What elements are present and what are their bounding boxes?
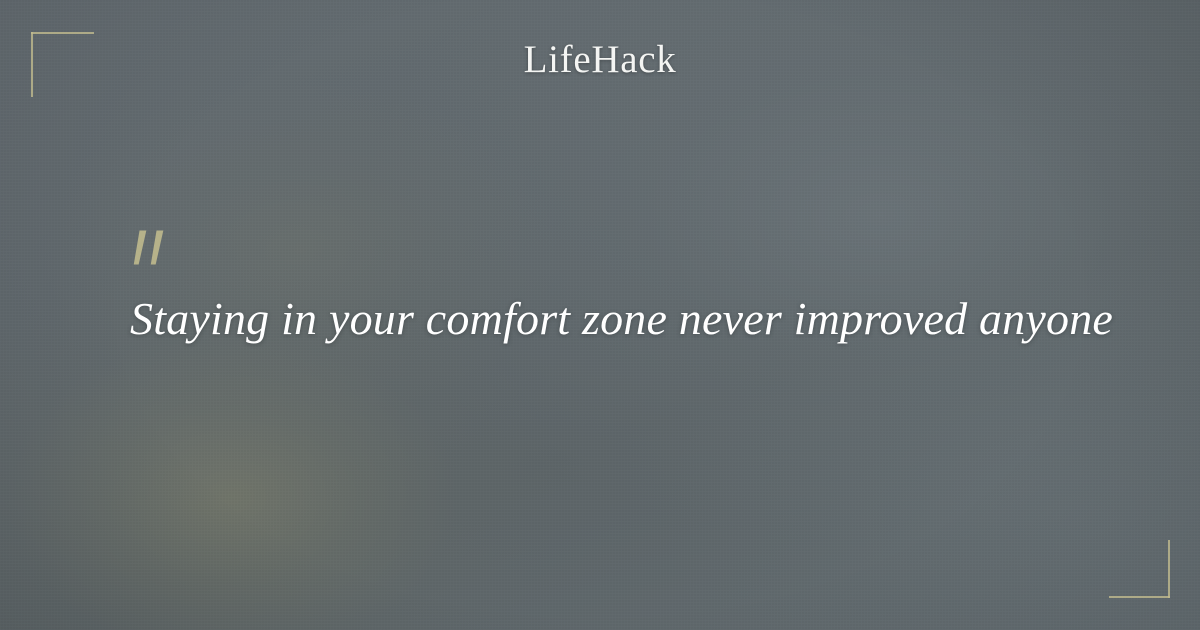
brand-logo: LifeHack (0, 40, 1200, 79)
corner-bracket-bottom-right-icon (1109, 540, 1170, 598)
quote-card: LifeHack Staying in your comfort zone ne… (0, 0, 1200, 630)
quote-text: Staying in your comfort zone never impro… (0, 292, 1200, 346)
corner-bracket-top-line (31, 32, 94, 34)
quote-mark-icon (132, 230, 176, 272)
corner-bracket-right-line (1168, 540, 1170, 598)
corner-bracket-bottom-line (1109, 596, 1170, 598)
